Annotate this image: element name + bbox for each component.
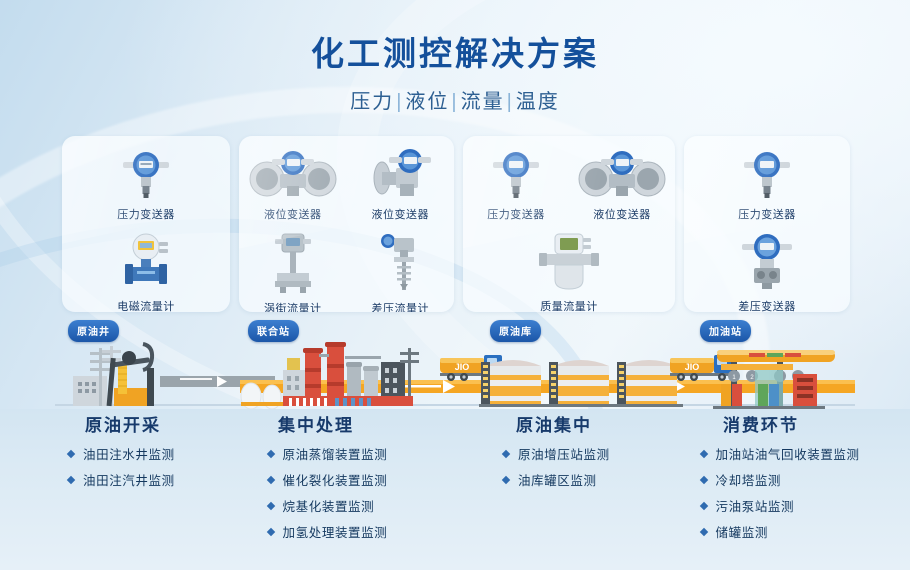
badge-gas-station[interactable]: 加油站 xyxy=(700,320,751,342)
list-item[interactable]: 催化裂化装置监测 xyxy=(268,470,487,489)
stage-items-extraction: 油田注水井监测 油田注汽井监测 xyxy=(68,444,248,541)
diamond-bullet-icon xyxy=(699,501,707,509)
pressure-transmitter-icon xyxy=(114,144,178,200)
diamond-bullet-icon xyxy=(266,501,274,509)
list-item-label: 油库罐区监测 xyxy=(518,470,597,489)
product-item[interactable]: 差压流量计 xyxy=(347,238,455,312)
product-label: 压力变送器 xyxy=(487,206,545,222)
stage-title-consumption: 消费环节 xyxy=(723,411,799,436)
product-item[interactable]: 质量流量计 xyxy=(463,236,675,312)
product-item[interactable]: 涡街流量计 xyxy=(239,238,347,312)
subtitle-part-temperature: 温度 xyxy=(516,91,560,113)
list-item-label: 油田注水井监测 xyxy=(83,444,175,463)
panel-4-row-2: 差压变送器 xyxy=(684,236,850,312)
diamond-bullet-icon xyxy=(699,475,707,483)
diamond-bullet-icon xyxy=(699,449,707,457)
oil-well-scene xyxy=(73,344,154,406)
list-item[interactable]: 油库罐区监测 xyxy=(503,470,683,489)
product-item[interactable]: 液位变送器 xyxy=(569,144,675,222)
diamond-bullet-icon xyxy=(266,449,274,457)
subtitle-separator-1: | xyxy=(396,91,403,113)
stage-title-extraction: 原油开采 xyxy=(85,411,161,436)
list-item-label: 储罐监测 xyxy=(716,522,768,541)
product-label: 涡街流量计 xyxy=(264,300,322,312)
product-panel-2[interactable]: 液位变送器 xyxy=(239,136,454,312)
diamond-bullet-icon xyxy=(502,449,510,457)
diamond-bullet-icon xyxy=(502,475,510,483)
level-transmitter-icon xyxy=(360,144,440,200)
list-item[interactable]: 原油增压站监测 xyxy=(503,444,683,463)
product-label: 压力变送器 xyxy=(738,206,796,222)
product-label: 液位变送器 xyxy=(264,206,322,222)
tank-farm-scene xyxy=(479,360,683,407)
panel-3-row-2: 质量流量计 xyxy=(463,236,675,312)
page-title: 化工测控解决方案 xyxy=(0,34,910,74)
product-panel-1[interactable]: 压力变送器 xyxy=(62,136,230,312)
product-panel-3[interactable]: 压力变送器 xyxy=(463,136,675,312)
stage-title-processing: 集中处理 xyxy=(278,411,354,436)
subtitle-separator-2: | xyxy=(451,91,458,113)
product-label: 差压变送器 xyxy=(738,298,796,312)
process-flow: JIO xyxy=(0,318,910,423)
level-transmitter-flange-icon xyxy=(576,144,668,200)
stage-items-processing: 原油蒸馏装置监测 催化裂化装置监测 烷基化装置监测 加氢处理装置监测 xyxy=(268,444,487,541)
product-label: 质量流量计 xyxy=(540,298,598,312)
product-label: 液位变送器 xyxy=(593,206,651,222)
list-item[interactable]: 烷基化装置监测 xyxy=(268,496,487,515)
refinery-scene xyxy=(241,342,419,409)
list-item-label: 加氢处理装置监测 xyxy=(283,522,388,541)
list-item[interactable]: 加油站油气回收装置监测 xyxy=(701,444,910,463)
header: 化工测控解决方案 压力|液位|流量|温度 xyxy=(0,34,910,114)
electromagnetic-flowmeter-icon xyxy=(111,236,181,292)
pressure-transmitter-icon xyxy=(735,144,799,200)
product-panel-4[interactable]: 压力变送器 xyxy=(684,136,850,312)
product-label: 压力变送器 xyxy=(117,206,175,222)
differential-pressure-flowmeter-icon xyxy=(370,238,430,294)
product-item[interactable]: 差压变送器 xyxy=(684,236,850,312)
panel-1-row-2: 电磁流量计 xyxy=(62,236,230,312)
diamond-bullet-icon xyxy=(699,527,707,535)
list-item[interactable]: 冷却塔监测 xyxy=(701,470,910,489)
product-item[interactable]: 液位变送器 xyxy=(347,144,455,222)
list-item-label: 原油增压站监测 xyxy=(518,444,610,463)
stage-title-storage: 原油集中 xyxy=(516,411,592,436)
vortex-flowmeter-icon xyxy=(263,238,323,294)
product-panels: 压力变送器 xyxy=(62,136,850,312)
truck-label: JIO xyxy=(455,362,470,372)
panel-4-row-1: 压力变送器 xyxy=(684,144,850,222)
list-item[interactable]: 加氢处理装置监测 xyxy=(268,522,487,541)
product-item[interactable]: 压力变送器 xyxy=(684,144,850,222)
page-subtitle: 压力|液位|流量|温度 xyxy=(0,85,910,114)
mass-flowmeter-icon xyxy=(531,236,607,292)
diamond-bullet-icon xyxy=(266,475,274,483)
product-item[interactable]: 压力变送器 xyxy=(62,144,230,222)
diamond-bullet-icon xyxy=(266,527,274,535)
list-item[interactable]: 储罐监测 xyxy=(701,522,910,541)
subtitle-separator-3: | xyxy=(507,91,514,113)
subtitle-part-pressure: 压力 xyxy=(350,91,394,113)
badge-gathering-station[interactable]: 联合站 xyxy=(248,320,299,342)
stage-item-columns: 油田注水井监测 油田注汽井监测 原油蒸馏装置监测 催化裂化装置监测 烷基化装置监… xyxy=(0,444,910,541)
product-item[interactable]: 电磁流量计 xyxy=(62,236,230,312)
product-label: 电磁流量计 xyxy=(117,298,175,312)
panel-1-row-1: 压力变送器 xyxy=(62,144,230,222)
bottom-section: 原油开采 集中处理 原油集中 消费环节 油田注水井监测 油田注汽井监测 原油蒸馏… xyxy=(0,409,910,570)
list-item-label: 冷却塔监测 xyxy=(716,470,782,489)
stage-items-consumption: 加油站油气回收装置监测 冷却塔监测 污油泵站监测 储罐监测 xyxy=(701,444,910,541)
product-label: 差压流量计 xyxy=(372,300,430,312)
list-item-label: 原油蒸馏装置监测 xyxy=(283,444,388,463)
badge-oil-well[interactable]: 原油井 xyxy=(68,320,119,342)
truck-label: JIO xyxy=(685,362,700,372)
differential-pressure-transmitter-icon xyxy=(734,236,800,292)
list-item[interactable]: 原油蒸馏装置监测 xyxy=(268,444,487,463)
list-item-label: 烷基化装置监测 xyxy=(283,496,375,515)
panel-3-row-1: 压力变送器 xyxy=(463,144,675,222)
panel-2-row-1: 液位变送器 xyxy=(239,144,454,222)
pressure-transmitter-icon xyxy=(484,144,548,200)
panel-2-row-2: 涡街流量计 xyxy=(239,238,454,312)
list-item-label: 加油站油气回收装置监测 xyxy=(716,444,860,463)
list-item-label: 催化裂化装置监测 xyxy=(283,470,388,489)
gas-station-scene: 1 2 xyxy=(713,350,835,409)
level-transmitter-flange-icon xyxy=(247,144,339,200)
list-item[interactable]: 油田注水井监测 xyxy=(68,444,248,463)
stage-items-storage: 原油增压站监测 油库罐区监测 xyxy=(503,444,683,541)
subtitle-part-level: 液位 xyxy=(405,91,449,113)
stage-titles: 原油开采 集中处理 原油集中 消费环节 xyxy=(0,409,910,439)
list-item-label: 油田注汽井监测 xyxy=(83,470,175,489)
diamond-bullet-icon xyxy=(67,449,75,457)
product-label: 液位变送器 xyxy=(372,206,430,222)
subtitle-part-flow: 流量 xyxy=(461,91,505,113)
product-item[interactable]: 压力变送器 xyxy=(463,144,569,222)
list-item-label: 污油泵站监测 xyxy=(716,496,795,515)
badge-oil-depot[interactable]: 原油库 xyxy=(490,320,541,342)
product-item[interactable]: 液位变送器 xyxy=(239,144,347,222)
infographic-root: 化工测控解决方案 压力|液位|流量|温度 xyxy=(0,0,910,570)
list-item[interactable]: 污油泵站监测 xyxy=(701,496,910,515)
list-item[interactable]: 油田注汽井监测 xyxy=(68,470,248,489)
diamond-bullet-icon xyxy=(67,475,75,483)
